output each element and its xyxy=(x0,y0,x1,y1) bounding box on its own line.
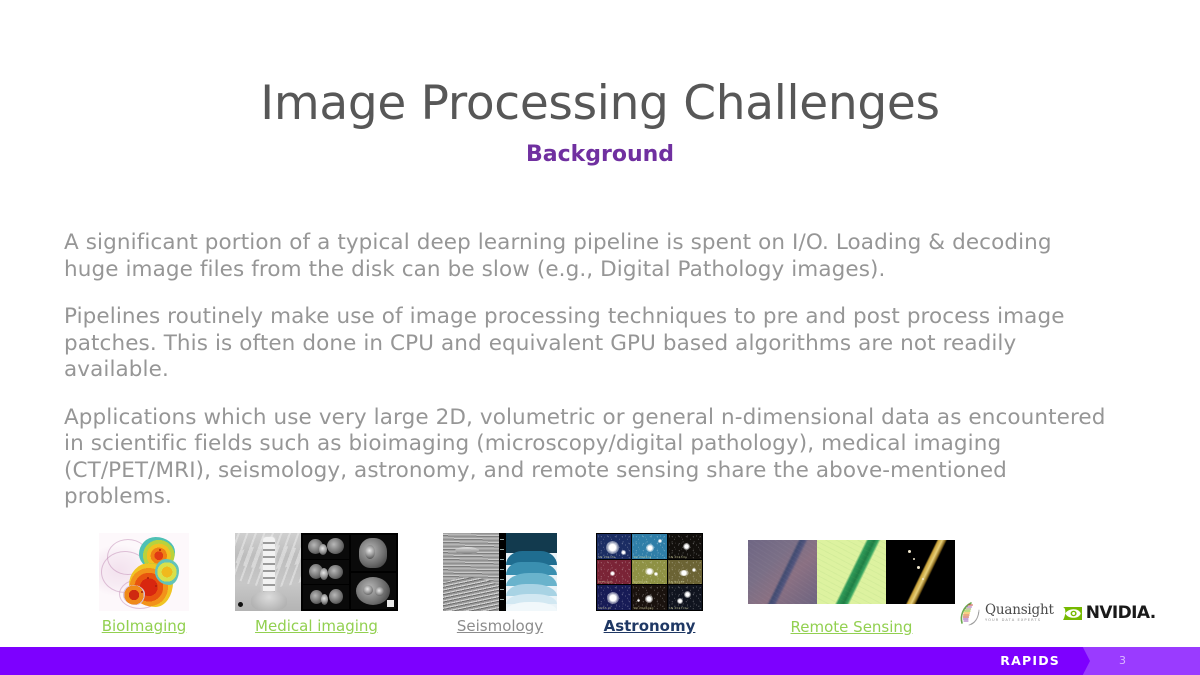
page-title: Image Processing Challenges xyxy=(0,78,1200,130)
depth-axis xyxy=(499,533,506,611)
caption-astronomy[interactable]: Astronomy xyxy=(596,617,703,635)
slide-canvas: Image Processing Challenges Background A… xyxy=(0,0,1200,675)
thumbnail-remote-sensing: Remote Sensing xyxy=(748,540,955,604)
strata-panel xyxy=(506,533,557,611)
thumbnail-astronomy: SN 2011fe SN 2012cg SN 2013dy PTF11kly S… xyxy=(596,533,703,611)
quansight-wordmark: Quansight xyxy=(985,604,1054,618)
caption-medical-imaging[interactable]: Medical imaging xyxy=(235,617,398,635)
logo-group: Quansight YOUR DATA EXPERTS NVIDIA. xyxy=(958,596,1156,630)
quansight-logo: Quansight YOUR DATA EXPERTS xyxy=(958,600,1054,626)
rgb-satellite-panel xyxy=(748,540,817,604)
paragraph-2: Pipelines routinely make use of image pr… xyxy=(64,304,1109,384)
nvidia-logo: NVIDIA. xyxy=(1062,603,1156,623)
water-mask-panel xyxy=(886,540,955,604)
caption-bioimaging[interactable]: BioImaging xyxy=(99,617,189,635)
ct-panel xyxy=(301,533,398,611)
footer-accent-panel xyxy=(1090,647,1200,675)
caption-remote-sensing[interactable]: Remote Sensing xyxy=(748,618,955,636)
body-text-block: A significant portion of a typical deep … xyxy=(64,230,1109,511)
bioimaging-image xyxy=(99,533,189,611)
thumbnail-seismology: Seismology xyxy=(443,533,557,611)
seismic-section-panel xyxy=(443,533,499,611)
thumbnail-medical-imaging: Medical imaging xyxy=(235,533,398,611)
footer-bar: RAPIDS 3 xyxy=(0,647,1200,675)
seismology-image xyxy=(443,533,557,611)
footer-brand: RAPIDS xyxy=(1000,653,1060,668)
medical-imaging-image xyxy=(235,533,398,611)
remote-sensing-image xyxy=(748,540,955,604)
nvidia-wordmark: NVIDIA. xyxy=(1086,603,1156,623)
nvidia-eye-icon xyxy=(1062,605,1083,622)
xray-panel xyxy=(235,533,301,611)
astronomy-image: SN 2011fe SN 2012cg SN 2013dy PTF11kly S… xyxy=(596,533,703,611)
quansight-tagline: YOUR DATA EXPERTS xyxy=(985,619,1054,623)
paragraph-1: A significant portion of a typical deep … xyxy=(64,230,1109,283)
caption-seismology[interactable]: Seismology xyxy=(443,617,557,635)
quansight-mark-icon xyxy=(958,600,982,626)
thumbnail-bioimaging: BioImaging xyxy=(99,533,189,611)
paragraph-3: Applications which use very large 2D, vo… xyxy=(64,405,1109,511)
page-subtitle: Background xyxy=(0,141,1200,169)
ndvi-panel xyxy=(817,540,886,604)
page-number: 3 xyxy=(1119,654,1126,667)
